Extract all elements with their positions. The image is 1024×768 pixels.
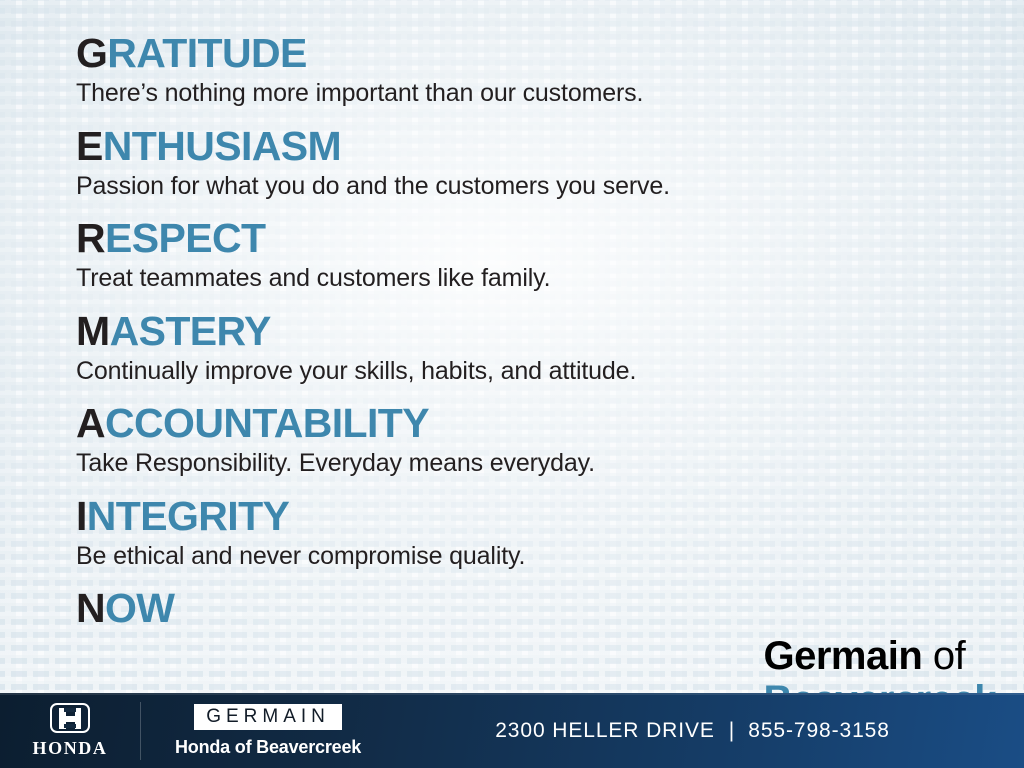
core-values-list: GRATITUDE There’s nothing more important…	[76, 33, 984, 635]
footer-address: 2300 HELLER DRIVE	[495, 719, 715, 743]
value-block-now: NOW	[76, 588, 984, 629]
value-heading-now: NOW	[76, 588, 984, 629]
value-rest-letters: RATITUDE	[107, 30, 306, 76]
value-block-integrity: INTEGRITY Be ethical and never compromis…	[76, 496, 984, 570]
dealer-wordmark-line-1: Germain of	[764, 636, 997, 676]
value-lead-letter: M	[76, 308, 110, 354]
germain-brand-lockup: GERMAIN Honda of Beavercreek	[141, 704, 361, 758]
honda-brand-lockup: HONDA	[0, 703, 140, 759]
footer-contact-info: 2300 HELLER DRIVE | 855-798-3158	[361, 719, 1024, 743]
value-heading-respect: RESPECT	[76, 218, 984, 259]
value-heading-integrity: INTEGRITY	[76, 496, 984, 537]
value-description-respect: Treat teammates and customers like famil…	[76, 265, 984, 292]
value-block-mastery: MASTERY Continually improve your skills,…	[76, 311, 984, 385]
value-rest-letters: ESPECT	[105, 215, 265, 261]
value-description-integrity: Be ethical and never compromise quality.	[76, 543, 984, 570]
honda-h-emblem-icon	[50, 703, 90, 733]
value-heading-accountability: ACCOUNTABILITY	[76, 403, 984, 444]
value-rest-letters: OW	[105, 585, 174, 631]
value-rest-letters: NTHUSIASM	[103, 123, 341, 169]
value-lead-letter: A	[76, 400, 105, 446]
footer-phone-number[interactable]: 855-798-3158	[748, 719, 890, 743]
emblem-bottom-notch	[64, 724, 76, 728]
value-heading-gratitude: GRATITUDE	[76, 33, 984, 74]
value-description-mastery: Continually improve your skills, habits,…	[76, 358, 984, 385]
emblem-center-bar	[59, 716, 81, 722]
footer-bar: HONDA GERMAIN Honda of Beavercreek 2300 …	[0, 693, 1024, 768]
value-lead-letter: R	[76, 215, 105, 261]
value-description-gratitude: There’s nothing more important than our …	[76, 80, 984, 107]
germain-logo-box: GERMAIN	[194, 704, 342, 730]
value-block-enthusiasm: ENTHUSIASM Passion for what you do and t…	[76, 126, 984, 200]
germain-dealership-name: Honda of Beavercreek	[175, 737, 361, 758]
value-rest-letters: ASTERY	[110, 308, 271, 354]
emblem-top-notch	[64, 708, 76, 712]
value-rest-letters: NTEGRITY	[87, 493, 289, 539]
value-block-gratitude: GRATITUDE There’s nothing more important…	[76, 33, 984, 107]
value-heading-mastery: MASTERY	[76, 311, 984, 352]
value-lead-letter: E	[76, 123, 103, 169]
value-lead-letter: I	[76, 493, 87, 539]
value-heading-enthusiasm: ENTHUSIASM	[76, 126, 984, 167]
value-description-accountability: Take Responsibility. Everyday means ever…	[76, 450, 984, 477]
dealer-wordmark-name: Germain	[764, 634, 923, 678]
value-lead-letter: N	[76, 585, 105, 631]
value-block-respect: RESPECT Treat teammates and customers li…	[76, 218, 984, 292]
value-block-accountability: ACCOUNTABILITY Take Responsibility. Ever…	[76, 403, 984, 477]
value-description-enthusiasm: Passion for what you do and the customer…	[76, 173, 984, 200]
value-rest-letters: CCOUNTABILITY	[105, 400, 429, 446]
dealership-core-values-poster: GRATITUDE There’s nothing more important…	[0, 0, 1024, 768]
value-lead-letter: G	[76, 30, 107, 76]
dealer-wordmark-connector: of	[922, 634, 965, 678]
footer-contact-separator: |	[715, 719, 748, 743]
honda-wordmark: HONDA	[33, 738, 108, 759]
